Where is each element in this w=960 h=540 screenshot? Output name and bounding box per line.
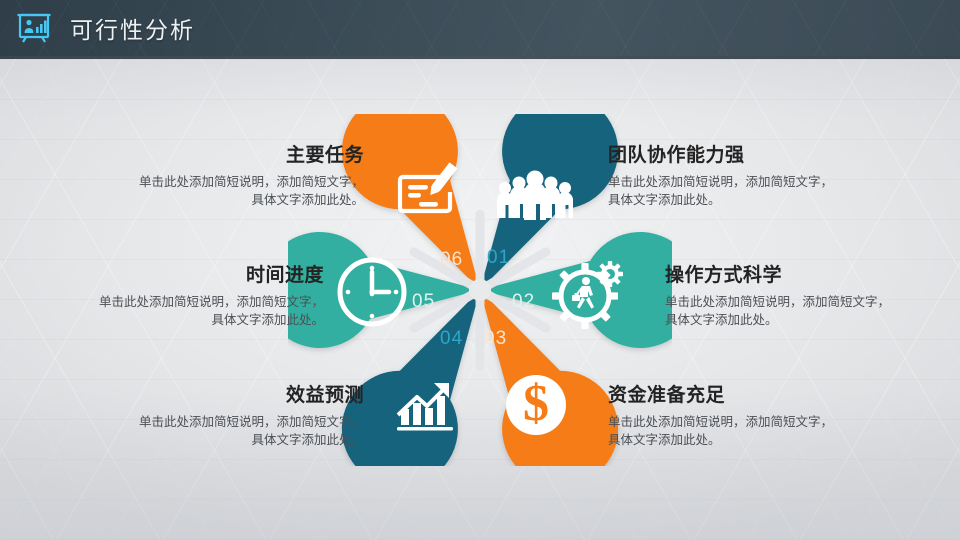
presentation-chart-icon <box>16 11 52 45</box>
clock-icon <box>340 260 404 324</box>
petal-number-01: 01 <box>487 247 510 269</box>
slide-canvas: 可行性分析 <box>0 0 960 540</box>
header-bar: 可行性分析 <box>0 0 960 56</box>
petal-text-02[interactable]: 操作方式科学 单击此处添加简短说明，添加简短文字， 具体文字添加此处。 <box>665 260 955 329</box>
petal-title-05: 时间进度 <box>24 260 324 287</box>
petal-desc-03: 单击此处添加简短说明，添加简短文字， 具体文字添加此处。 <box>608 413 908 449</box>
petal-number-06: 06 <box>440 249 463 271</box>
petal-desc-04: 单击此处添加简短说明，添加简短文字， 具体文字添加此处。 <box>84 413 364 449</box>
petal-desc-02: 单击此处添加简短说明，添加简短文字， 具体文字添加此处。 <box>665 293 955 329</box>
petal-text-01[interactable]: 团队协作能力强 单击此处添加简短说明，添加简短文字， 具体文字添加此处。 <box>608 140 908 209</box>
petal-number-05: 05 <box>412 291 435 313</box>
petal-title-06: 主要任务 <box>84 140 364 167</box>
petal-text-03[interactable]: 资金准备充足 单击此处添加简短说明，添加简短文字， 具体文字添加此处。 <box>608 380 908 449</box>
header-divider <box>0 56 960 59</box>
petal-text-05[interactable]: 时间进度 单击此处添加简短说明，添加简短文字， 具体文字添加此处。 <box>24 260 324 329</box>
petal-title-01: 团队协作能力强 <box>608 140 908 167</box>
dollar-coin-icon: $ <box>506 375 566 435</box>
petal-number-02: 02 <box>512 291 535 313</box>
petal-number-03: 03 <box>484 328 507 350</box>
petal-title-03: 资金准备充足 <box>608 380 908 407</box>
page-title: 可行性分析 <box>70 11 195 45</box>
petal-text-06[interactable]: 主要任务 单击此处添加简短说明，添加简短文字， 具体文字添加此处。 <box>84 140 364 209</box>
petal-number-04: 04 <box>440 328 463 350</box>
svg-text:$: $ <box>523 375 549 432</box>
petal-desc-06: 单击此处添加简短说明，添加简短文字， 具体文字添加此处。 <box>84 173 364 209</box>
petal-title-04: 效益预测 <box>84 380 364 407</box>
petal-desc-05: 单击此处添加简短说明，添加简短文字， 具体文字添加此处。 <box>24 293 324 329</box>
petal-text-04[interactable]: 效益预测 单击此处添加简短说明，添加简短文字， 具体文字添加此处。 <box>84 380 364 449</box>
petal-desc-01: 单击此处添加简短说明，添加简短文字， 具体文字添加此处。 <box>608 173 908 209</box>
petal-title-02: 操作方式科学 <box>665 260 955 287</box>
